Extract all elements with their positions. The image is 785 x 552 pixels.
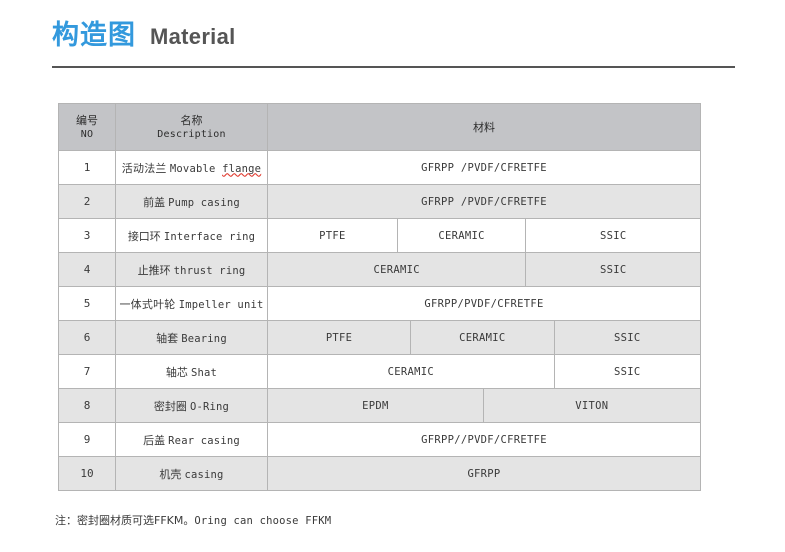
description-cn: 机壳 (159, 468, 181, 481)
description-en: Rear casing (168, 435, 240, 447)
cell-material-group: GFRPP//PVDF/CFRETFE (268, 423, 701, 457)
cell-material: GFRPP (268, 457, 700, 490)
cell-material-group: GFRPP (268, 457, 701, 491)
cell-no: 8 (59, 389, 116, 423)
description-cn: 一体式叶轮 (119, 298, 175, 311)
description-cn: 轴套 (156, 332, 178, 345)
description-en: Shat (191, 367, 217, 379)
cell-material-group: GFRPP /PVDF/CFRETFE (268, 151, 701, 185)
column-header-description-en: Description (119, 128, 264, 142)
cell-no: 3 (59, 219, 116, 253)
cell-description: 后盖 Rear casing (116, 423, 268, 457)
footer-note: 注：密封圈材质可选FFKM。Oring can choose FFKM (55, 512, 331, 528)
cell-material: SSIC (525, 219, 700, 252)
column-header-description-cn: 名称 (119, 113, 264, 128)
cell-no: 6 (59, 321, 116, 355)
table-row: 10机壳 casingGFRPP (59, 457, 701, 491)
description-en: Movable flange (170, 163, 261, 175)
description-en: Interface ring (164, 231, 255, 243)
cell-no: 2 (59, 185, 116, 219)
cell-material-group: PTFECERAMICSSIC (268, 321, 701, 355)
cell-material: SSIC (554, 355, 700, 388)
table-header-row: 编号 NO 名称 Description 材料 (59, 104, 701, 151)
cell-material: VITON (483, 389, 700, 422)
cell-no: 7 (59, 355, 116, 389)
description-en: Pump casing (168, 197, 240, 209)
table-row: 7轴芯 ShatCERAMICSSIC (59, 355, 701, 389)
cell-material-group: GFRPP/PVDF/CFRETFE (268, 287, 701, 321)
cell-material: CERAMIC (268, 355, 554, 388)
page-title-en: Material (150, 20, 236, 54)
table-row: 8密封圈 O-RingEPDMVITON (59, 389, 701, 423)
cell-material: CERAMIC (268, 253, 525, 286)
cell-no: 10 (59, 457, 116, 491)
cell-material-group: PTFECERAMICSSIC (268, 219, 701, 253)
cell-description: 止推环 thrust ring (116, 253, 268, 287)
footer-note-en: Oring can choose FFKM (194, 515, 331, 527)
cell-material: PTFE (268, 321, 410, 354)
cell-description: 一体式叶轮 Impeller unit (116, 287, 268, 321)
description-cn: 后盖 (143, 434, 165, 447)
column-header-no-en: NO (62, 128, 112, 142)
cell-material-group: CERAMICSSIC (268, 253, 701, 287)
description-cn: 接口环 (128, 230, 161, 243)
description-en: O-Ring (190, 401, 229, 413)
material-table: 编号 NO 名称 Description 材料 1活动法兰 Movable fl… (58, 103, 701, 491)
cell-description: 轴套 Bearing (116, 321, 268, 355)
page-title-block: 构造图 Material (52, 18, 735, 68)
cell-material: SSIC (525, 253, 700, 286)
cell-material-group: CERAMICSSIC (268, 355, 701, 389)
table-row: 3接口环 Interface ringPTFECERAMICSSIC (59, 219, 701, 253)
cell-description: 轴芯 Shat (116, 355, 268, 389)
cell-material: CERAMIC (410, 321, 553, 354)
cell-no: 4 (59, 253, 116, 287)
cell-description: 密封圈 O-Ring (116, 389, 268, 423)
footer-note-cn: 注：密封圈材质可选FFKM。 (55, 514, 194, 527)
table-row: 6轴套 BearingPTFECERAMICSSIC (59, 321, 701, 355)
description-cn: 止推环 (138, 264, 171, 277)
column-header-no-cn: 编号 (62, 113, 112, 128)
cell-material: CERAMIC (397, 219, 526, 252)
table-row: 4止推环 thrust ringCERAMICSSIC (59, 253, 701, 287)
table-body: 1活动法兰 Movable flangeGFRPP /PVDF/CFRETFE2… (59, 151, 701, 491)
cell-no: 5 (59, 287, 116, 321)
cell-no: 1 (59, 151, 116, 185)
page-title-cn: 构造图 (52, 18, 136, 52)
description-en: casing (184, 469, 223, 481)
cell-material: PTFE (268, 219, 397, 252)
table-row: 5一体式叶轮 Impeller unitGFRPP/PVDF/CFRETFE (59, 287, 701, 321)
description-cn: 前盖 (143, 196, 165, 209)
table-row: 1活动法兰 Movable flangeGFRPP /PVDF/CFRETFE (59, 151, 701, 185)
cell-material: GFRPP /PVDF/CFRETFE (268, 151, 700, 184)
cell-description: 机壳 casing (116, 457, 268, 491)
title-divider (52, 66, 735, 68)
column-header-description: 名称 Description (116, 104, 268, 151)
column-header-material: 材料 (268, 104, 701, 151)
cell-material: SSIC (554, 321, 700, 354)
cell-description: 前盖 Pump casing (116, 185, 268, 219)
cell-material: GFRPP/PVDF/CFRETFE (268, 287, 700, 320)
description-cn: 密封圈 (154, 400, 187, 413)
column-header-no: 编号 NO (59, 104, 116, 151)
cell-material-group: EPDMVITON (268, 389, 701, 423)
description-cn: 活动法兰 (122, 162, 167, 175)
page-title: 构造图 Material (52, 18, 735, 62)
table-row: 2前盖 Pump casingGFRPP /PVDF/CFRETFE (59, 185, 701, 219)
description-en: Bearing (181, 333, 227, 345)
cell-material-group: GFRPP /PVDF/CFRETFE (268, 185, 701, 219)
cell-no: 9 (59, 423, 116, 457)
cell-material: EPDM (268, 389, 483, 422)
cell-description: 活动法兰 Movable flange (116, 151, 268, 185)
table-head: 编号 NO 名称 Description 材料 (59, 104, 701, 151)
cell-material: GFRPP /PVDF/CFRETFE (268, 185, 700, 218)
description-en: thrust ring (174, 265, 246, 277)
column-header-material-cn: 材料 (271, 120, 697, 135)
cell-description: 接口环 Interface ring (116, 219, 268, 253)
table-row: 9后盖 Rear casingGFRPP//PVDF/CFRETFE (59, 423, 701, 457)
description-en: Impeller unit (179, 299, 264, 311)
cell-material: GFRPP//PVDF/CFRETFE (268, 423, 700, 456)
description-cn: 轴芯 (166, 366, 188, 379)
